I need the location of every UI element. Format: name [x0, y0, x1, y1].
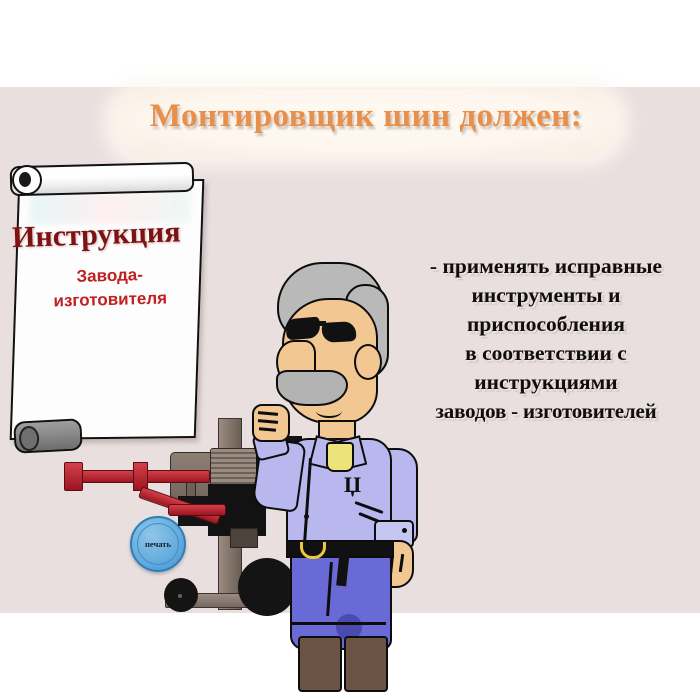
left-boot	[298, 636, 342, 692]
pants-cuff-line	[292, 622, 386, 625]
right-cuff-button	[402, 528, 407, 533]
body-line-3: приспособления	[396, 310, 696, 339]
machine-wheel-small	[164, 578, 198, 612]
tie	[326, 442, 354, 472]
ear	[354, 344, 382, 380]
body-line-2: инструменты и	[396, 281, 696, 310]
body-line-6: заводов - изготовителей	[396, 397, 696, 426]
right-boot	[344, 636, 388, 692]
body-text-block: - применять исправные инструменты и прис…	[396, 252, 696, 426]
body-line-5: инструкциями	[396, 368, 696, 397]
mustache	[276, 370, 348, 406]
scroll-title: Инструкция	[11, 215, 192, 255]
body-line-1: - применять исправные	[396, 252, 696, 281]
scroll-subtitle: Завода- изготовителя	[23, 262, 196, 314]
mouth	[316, 404, 342, 418]
left-fist	[252, 404, 290, 442]
sunglasses-icon	[286, 318, 362, 340]
sunglasses-left-lens	[285, 317, 321, 341]
scroll-subtitle-line-1: Завода-	[76, 265, 143, 286]
machine-lever-brace-lower	[168, 504, 226, 516]
sunglasses-right-lens	[321, 321, 356, 343]
scroll-subtitle-line-2: изготовителя	[53, 289, 167, 311]
shirt-button	[304, 514, 309, 519]
machine-lever-knob	[64, 462, 83, 491]
pocket-badge: Џ	[344, 474, 366, 498]
body-line-4: в соответствии с	[396, 339, 696, 368]
page-title: Монтировщик шин должен:	[112, 98, 620, 135]
slide-canvas: Монтировщик шин должен: Инструкция Завод…	[0, 0, 700, 700]
scroll-top-curl-icon	[12, 165, 42, 195]
